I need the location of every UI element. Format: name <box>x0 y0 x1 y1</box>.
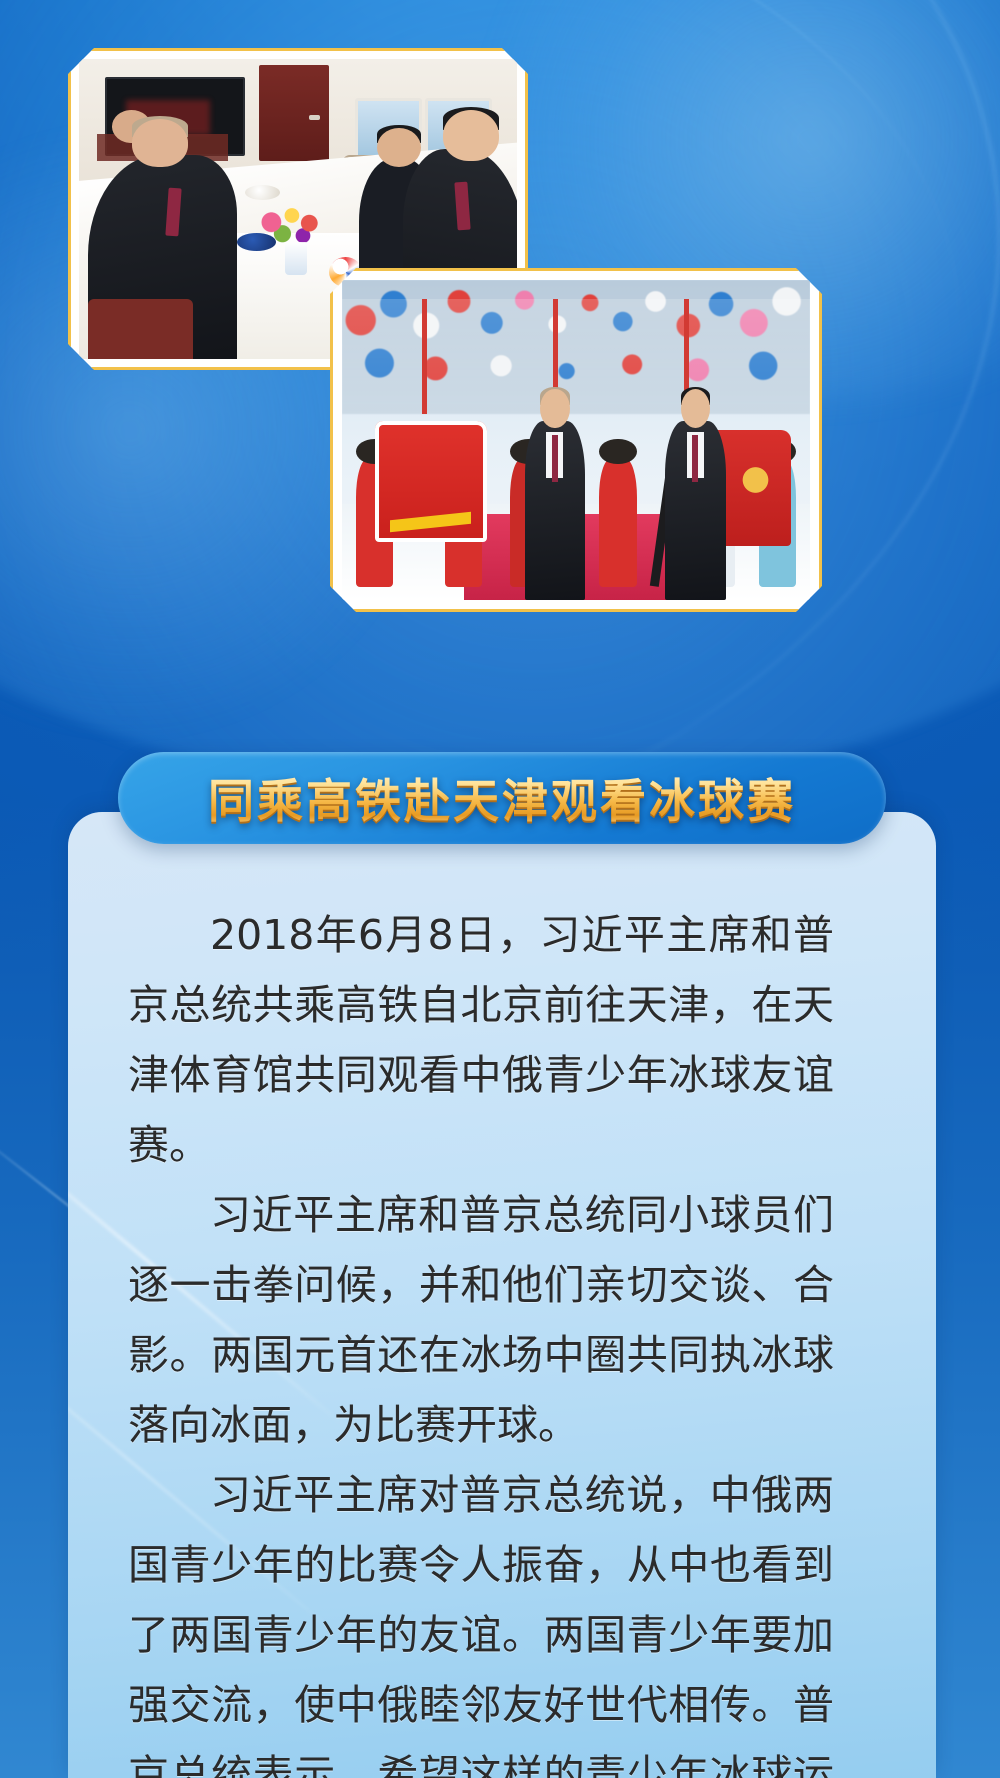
photo-ice-rink-jerseys-image <box>342 280 810 600</box>
china-jersey <box>375 421 487 543</box>
paragraph-3: 习近平主席对普京总统说，中俄两国青少年的比赛令人振奋，从中也看到了两国青少年的友… <box>128 1460 834 1778</box>
figure-xi <box>665 421 726 600</box>
figure-putin <box>525 421 586 600</box>
section-title-banner: 同乘高铁赴天津观看冰球赛 <box>118 752 886 844</box>
page-title: 同乘高铁赴天津观看冰球赛 <box>208 765 796 831</box>
article-body: 2018年6月8日，习近平主席和普京总统共乘高铁自北京前往天津，在天津体育馆共同… <box>128 900 834 1778</box>
paragraph-1: 2018年6月8日，习近平主席和普京总统共乘高铁自北京前往天津，在天津体育馆共同… <box>128 900 834 1180</box>
poster-root: 同乘高铁赴天津观看冰球赛 2018年6月8日，习近平主席和普京总统共乘高铁自北京… <box>0 0 1000 1778</box>
cabin-door <box>259 65 329 161</box>
photo-ice-rink-jerseys <box>330 268 822 612</box>
paragraph-2: 习近平主席和普京总统同小球员们逐一击拳问候，并和他们亲切交谈、合影。两国元首还在… <box>128 1180 834 1460</box>
